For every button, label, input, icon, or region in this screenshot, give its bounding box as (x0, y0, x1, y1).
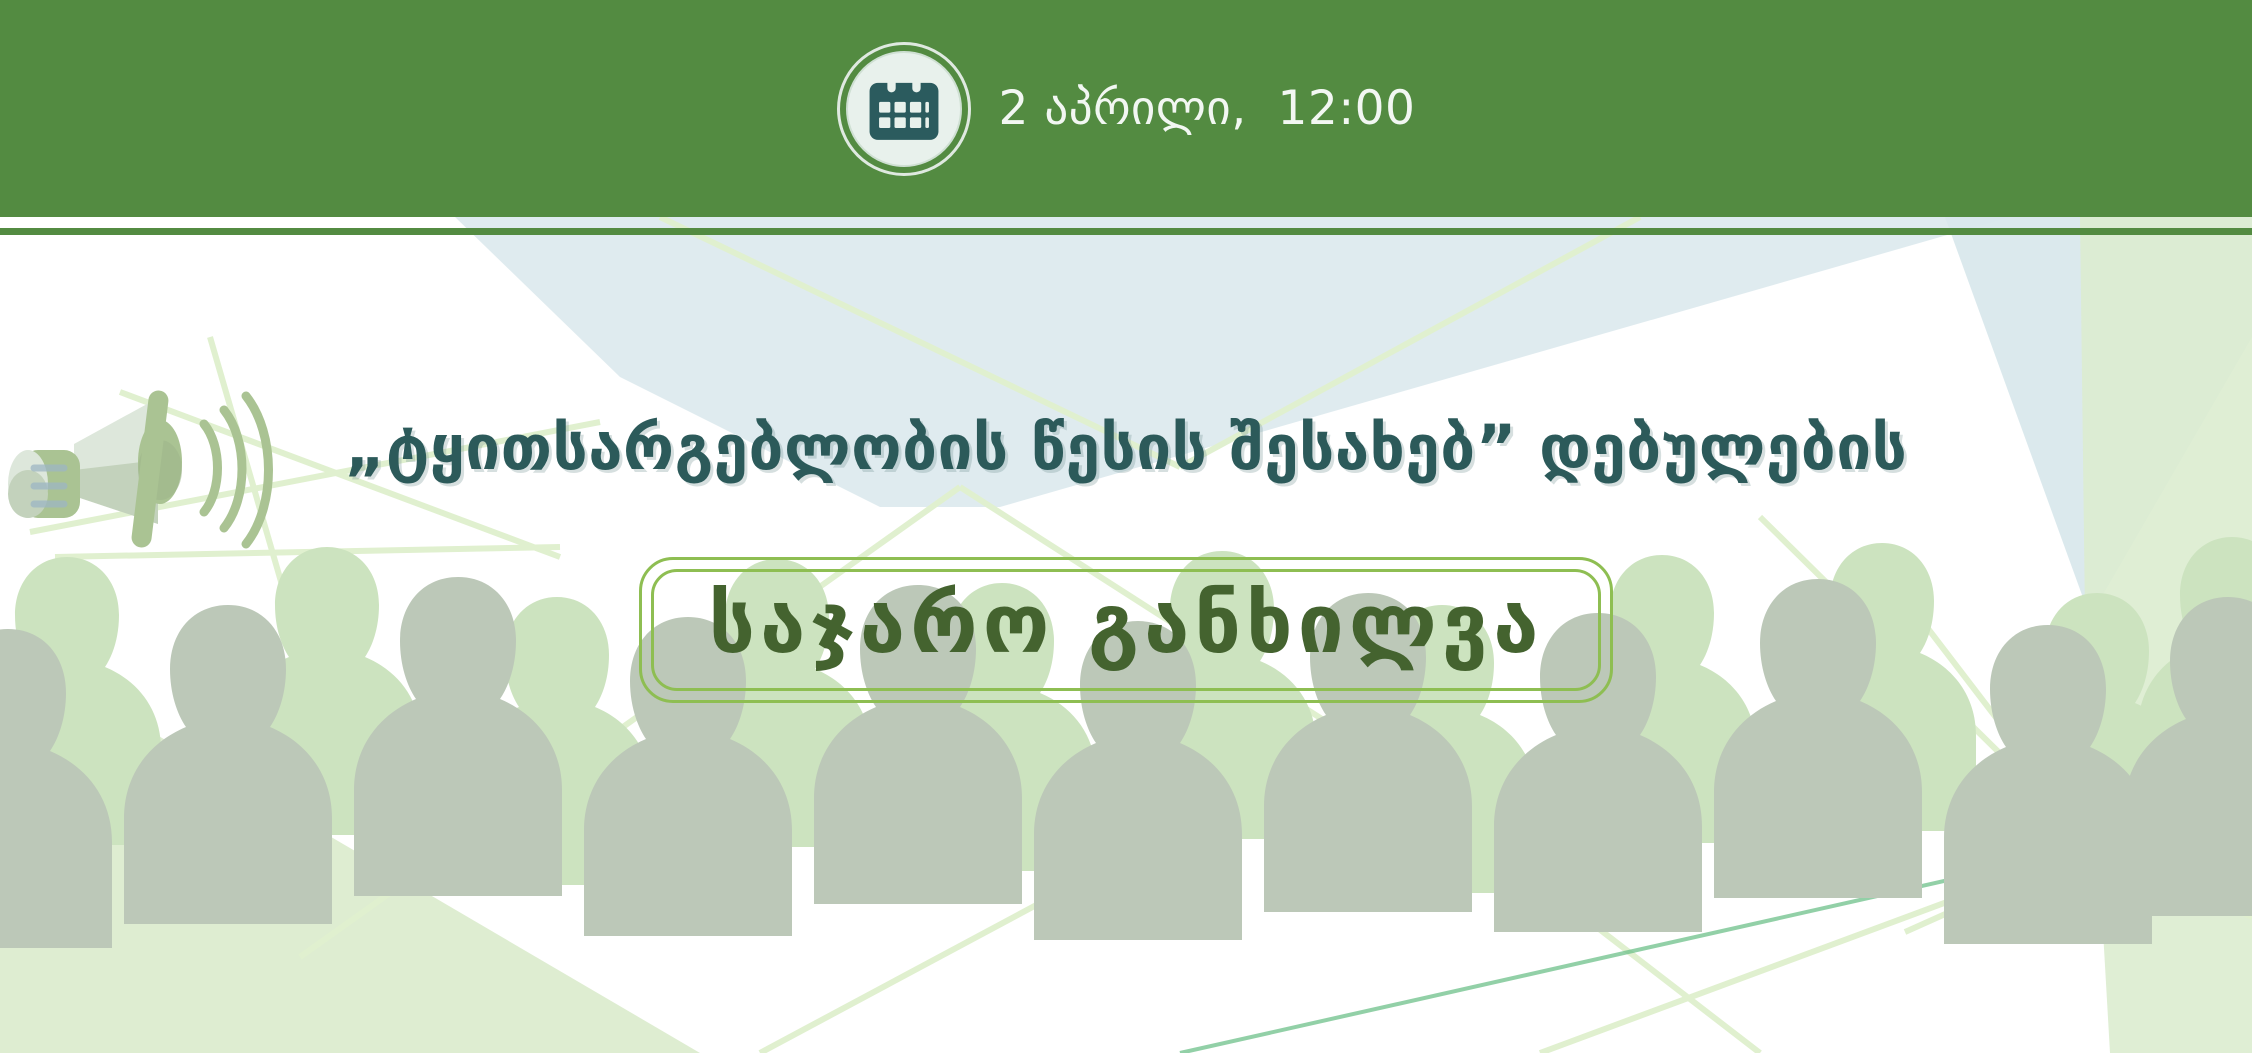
megaphone-icon (8, 372, 318, 587)
background-shapes-svg (0, 217, 2252, 1053)
calendar-icon (837, 42, 971, 176)
megaphone-svg (8, 372, 318, 587)
background-decoration (0, 217, 2252, 1053)
header-divider-rule (0, 228, 2252, 235)
header-content: 2 აპრილი, 12:00 (0, 0, 2252, 217)
public-hearing-poster: 2 აპრილი, 12:00 „ტყითსარგებლობის წესის შ… (0, 0, 2252, 1053)
calendar-glyph (866, 71, 942, 147)
event-date-time: 2 აპრილი, 12:00 (999, 85, 1416, 132)
blue-wedge-left (455, 217, 2010, 507)
